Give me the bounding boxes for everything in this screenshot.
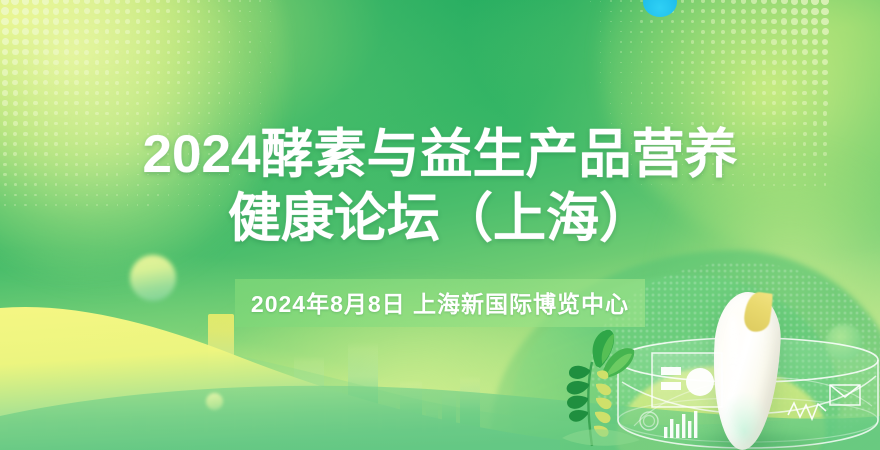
radial-glow-top-left-inner	[0, 0, 270, 290]
radial-glow-top-right	[600, 0, 880, 250]
banner-title-line-2: 健康论坛（上海）	[0, 187, 880, 251]
banner-title-line-1: 2024酵素与益生产品营养	[0, 123, 880, 187]
banner-subtitle-block: 2024年8月8日 上海新国际博览中心	[0, 279, 880, 327]
banner-subtitle-pill: 2024年8月8日 上海新国际博览中心	[235, 279, 645, 327]
radial-glow-top-left	[0, 0, 290, 290]
halftone-dot-field-left	[0, 0, 306, 210]
halftone-dot-field-right	[565, 0, 830, 190]
floating-sphere-small	[206, 393, 223, 410]
event-banner: 2024酵素与益生产品营养 健康论坛（上海） 2024年8月8日 上海新国际博览…	[0, 0, 880, 450]
capsule-highlight	[726, 314, 740, 406]
leaf-plant	[552, 326, 648, 450]
banner-title-block: 2024酵素与益生产品营养 健康论坛（上海）	[0, 123, 880, 251]
floating-sphere-right	[826, 324, 862, 360]
cyan-bubble	[643, 0, 677, 17]
